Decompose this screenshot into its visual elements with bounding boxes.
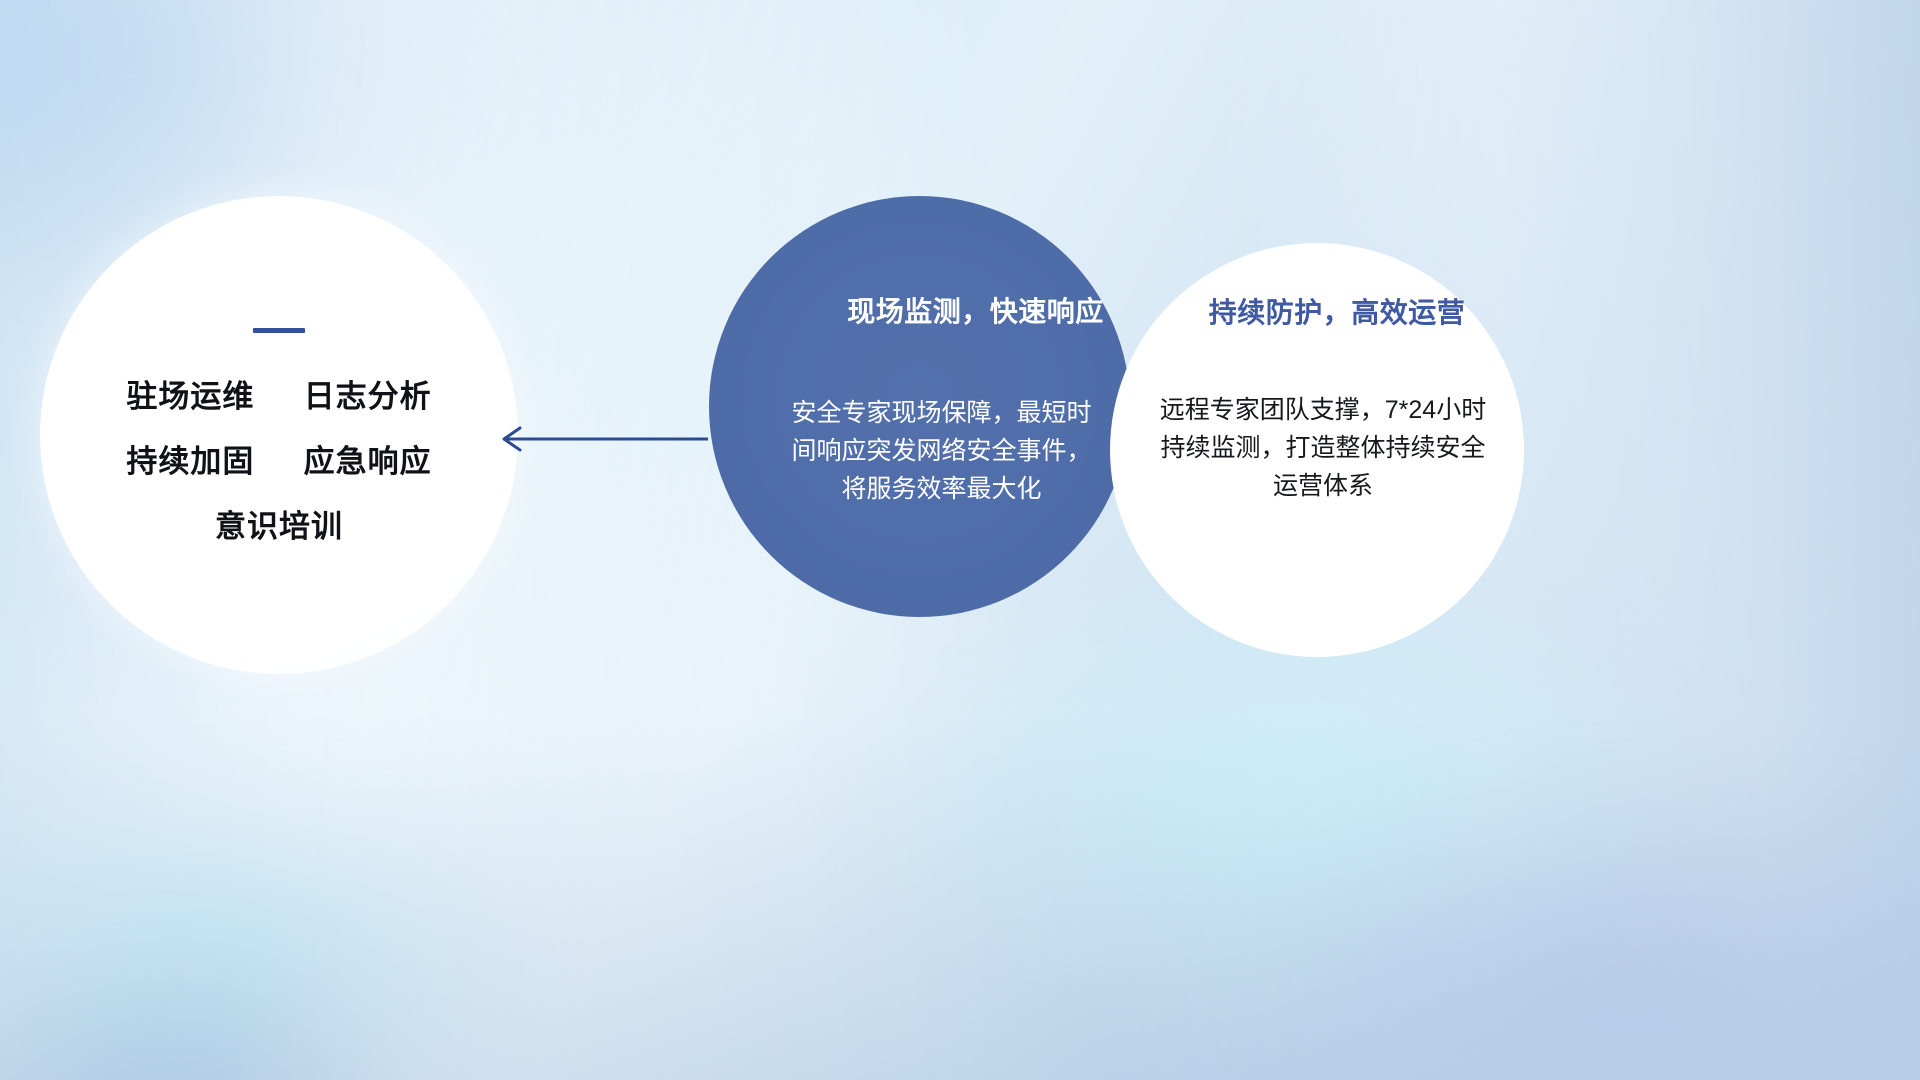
card-onsite-monitoring[interactable]: 现场监测，快速响应 安全专家现场保障，最短时间响应突发网络安全事件，将服务效率最… <box>709 196 1130 617</box>
service-tag-log-analysis: 日志分析 <box>304 379 432 414</box>
card-onsite-monitoring-body: 安全专家现场保障，最短时间响应突发网络安全事件，将服务效率最大化 <box>792 394 1092 508</box>
service-tag-onsite-ops: 驻场运维 <box>126 379 254 414</box>
card-onsite-services[interactable]: 驻场运维 日志分析 持续加固 应急响应 意识培训 <box>40 196 518 674</box>
service-tag-emergency-response: 应急响应 <box>304 444 432 479</box>
service-tag-continuous-hardening: 持续加固 <box>126 444 254 479</box>
card-onsite-services-content: 驻场运维 日志分析 持续加固 应急响应 意识培训 <box>40 196 518 674</box>
card-onsite-monitoring-content: 现场监测，快速响应 安全专家现场保障，最短时间响应突发网络安全事件，将服务效率最… <box>709 196 1130 617</box>
service-row-1: 驻场运维 日志分析 <box>126 381 431 412</box>
card-continuous-protection-body: 远程专家团队支撑，7*24小时持续监测，打造整体持续安全运营体系 <box>1149 391 1497 505</box>
card-continuous-protection-content: 持续防护，高效运营 远程专家团队支撑，7*24小时持续监测，打造整体持续安全运营… <box>1110 243 1524 657</box>
service-row-3: 意识培训 <box>215 511 343 542</box>
card-continuous-protection[interactable]: 持续防护，高效运营 远程专家团队支撑，7*24小时持续监测，打造整体持续安全运营… <box>1110 243 1524 657</box>
service-row-2: 持续加固 应急响应 <box>126 446 431 477</box>
arrow-left-icon <box>492 424 712 454</box>
card-onsite-monitoring-title: 现场监测，快速响应 <box>847 290 1104 330</box>
three-circle-diagram: 驻场运维 日志分析 持续加固 应急响应 意识培训 现场监测，快速响应 安全专家现… <box>0 0 1920 1080</box>
card-continuous-protection-title: 持续防护，高效运营 <box>1209 291 1466 331</box>
title-divider <box>253 328 305 333</box>
service-tag-awareness-training: 意识培训 <box>215 509 343 544</box>
